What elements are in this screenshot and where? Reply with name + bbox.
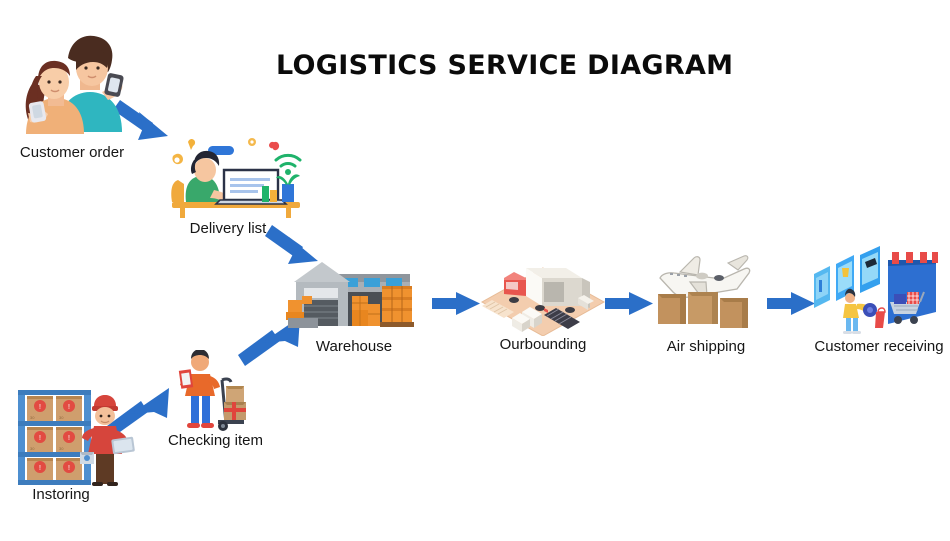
warehouse-shelf-worker-icon: !! !! !! 3030 3030 xyxy=(8,382,138,486)
isometric-retail-shopping-icon xyxy=(808,246,950,336)
node-customer-receiving-label: Customer receiving xyxy=(805,338,950,356)
svg-text:!: ! xyxy=(39,465,41,472)
node-air-shipping-label: Air shipping xyxy=(640,338,772,356)
node-ourbounding-label: Ourbounding xyxy=(472,336,614,354)
node-customer-order[interactable]: Customer order xyxy=(8,22,158,162)
person-at-laptop-icon xyxy=(150,128,310,220)
warehouse-building-icon xyxy=(286,252,426,336)
svg-text:!: ! xyxy=(68,435,70,442)
svg-text:30: 30 xyxy=(59,415,64,420)
node-delivery-list-label: Delivery list xyxy=(168,220,288,238)
node-instoring[interactable]: !! !! !! 3030 3030 Instoring xyxy=(8,382,138,506)
airplane-with-cartons-icon xyxy=(646,248,766,336)
node-customer-order-label: Customer order xyxy=(6,144,138,162)
node-warehouse-label: Warehouse xyxy=(294,338,414,356)
node-warehouse[interactable]: Warehouse xyxy=(286,252,426,362)
svg-text:30: 30 xyxy=(30,415,35,420)
worker-with-clipboard-handtruck-icon xyxy=(160,350,270,432)
two-people-with-phones-icon xyxy=(8,22,158,142)
arrow-warehouse-to-ourbounding xyxy=(432,292,480,315)
svg-text:!: ! xyxy=(68,465,70,472)
node-checking-item[interactable]: Checking item xyxy=(160,350,270,450)
svg-text:30: 30 xyxy=(59,446,64,451)
node-checking-item-label: Checking item xyxy=(158,432,273,450)
node-ourbounding[interactable]: Ourbounding xyxy=(478,250,608,362)
node-instoring-label: Instoring xyxy=(16,486,106,504)
svg-text:!: ! xyxy=(39,435,41,442)
isometric-loading-truck-icon xyxy=(478,250,608,336)
svg-text:!: ! xyxy=(68,404,70,411)
node-air-shipping[interactable]: Air shipping xyxy=(646,248,766,362)
node-delivery-list[interactable]: Delivery list xyxy=(150,128,310,238)
svg-text:30: 30 xyxy=(30,446,35,451)
node-customer-receiving[interactable]: Customer receiving xyxy=(808,246,950,362)
svg-text:!: ! xyxy=(39,404,41,411)
